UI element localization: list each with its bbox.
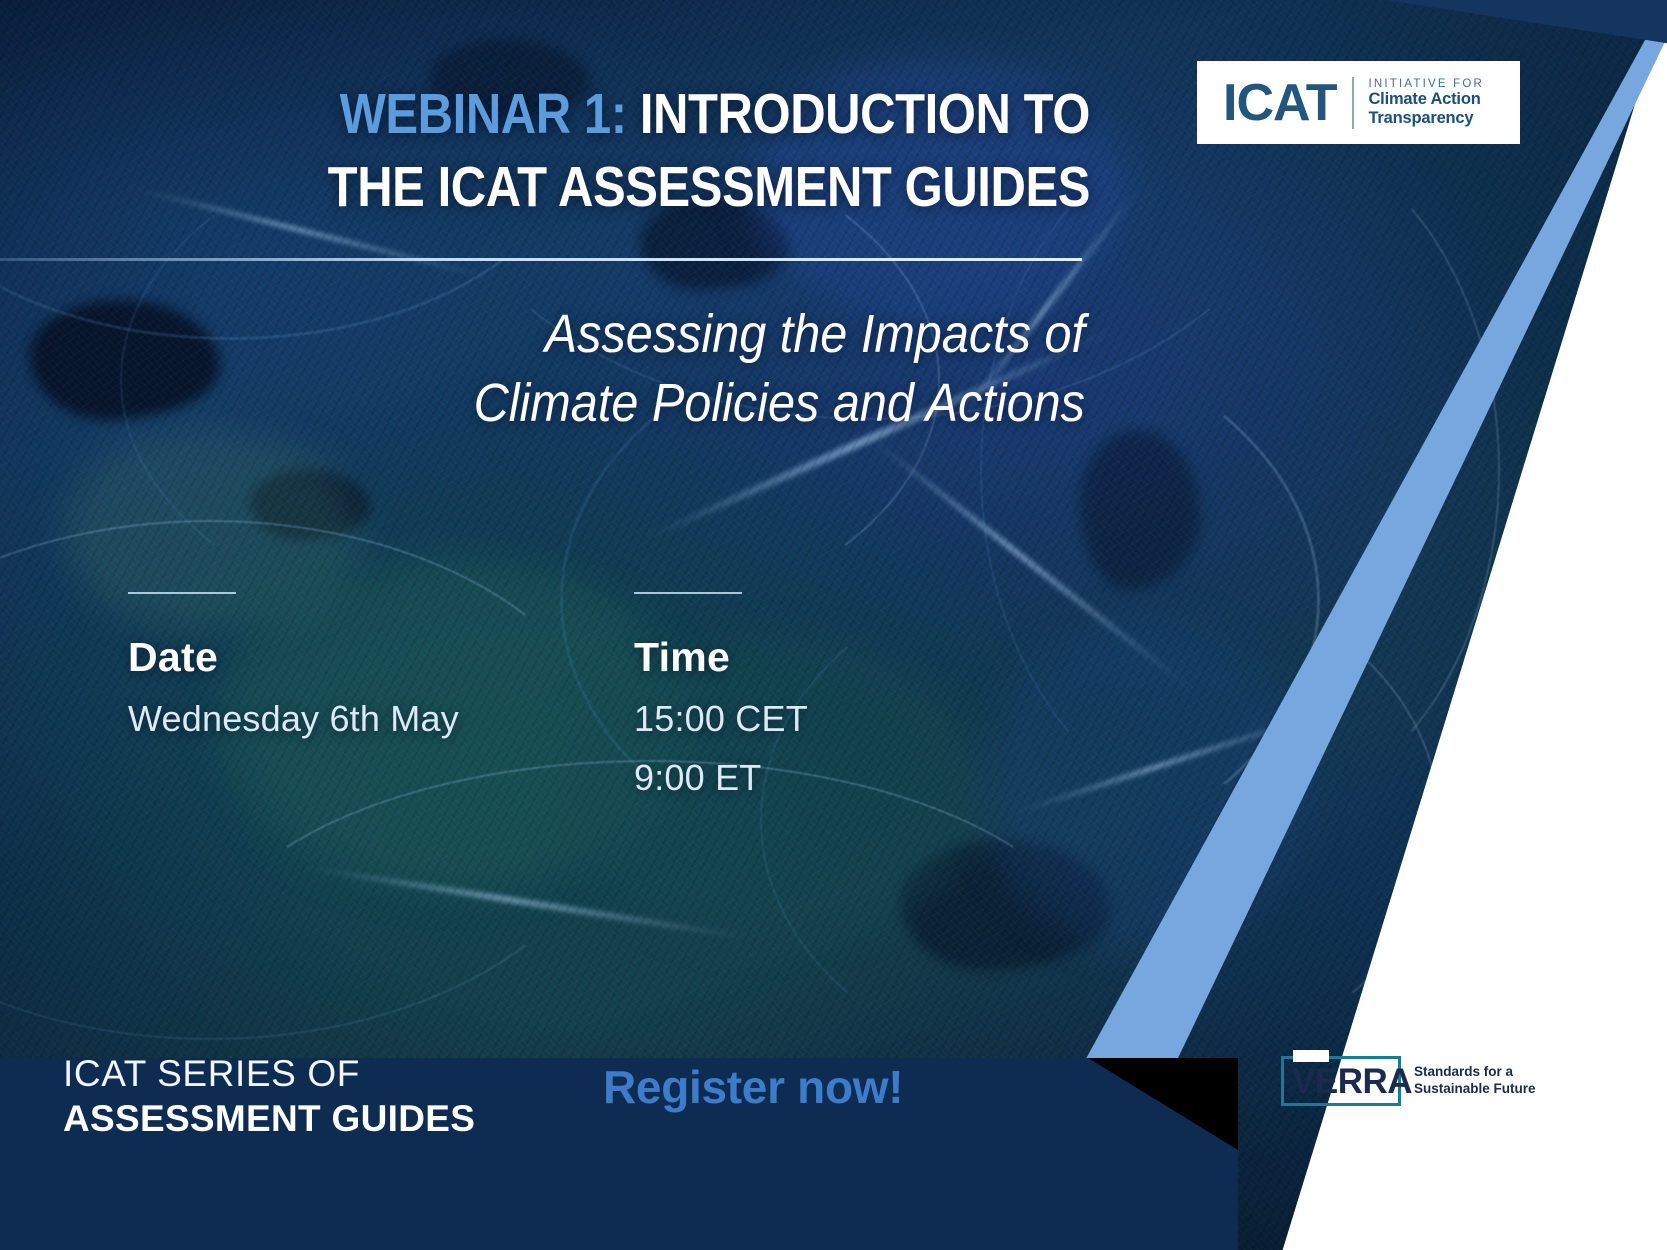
- title-highlight: WEBINAR 1:: [340, 82, 627, 146]
- subtitle-line2: Climate Policies and Actions: [474, 373, 1085, 433]
- icat-tagline-line1: INITIATIVE FOR: [1368, 78, 1484, 91]
- verra-tagline-line1: Standards for a: [1414, 1064, 1536, 1081]
- date-value: Wednesday 6th May: [128, 698, 459, 740]
- register-now-cta[interactable]: Register now!: [603, 1060, 903, 1114]
- webinar-promo-poster: ICAT INITIATIVE FOR Climate Action Trans…: [0, 0, 1667, 1250]
- date-label: Date: [128, 634, 218, 681]
- logo-divider: [1352, 77, 1354, 129]
- page-title: WEBINAR 1: INTRODUCTION TO THE ICAT ASSE…: [153, 78, 1090, 224]
- time-value-cet: 15:00 CET: [634, 698, 808, 740]
- verra-logo: VERRA Standards for a Sustainable Future: [1281, 1056, 1536, 1106]
- icat-logo: ICAT INITIATIVE FOR Climate Action Trans…: [1197, 61, 1520, 144]
- title-line2: THE ICAT ASSESSMENT GUIDES: [328, 155, 1090, 219]
- footer-series-line2: ASSESSMENT GUIDES: [63, 1098, 475, 1140]
- subtitle-line1: Assessing the Impacts of: [545, 304, 1085, 364]
- decorative-black-corner: [1088, 1058, 1238, 1150]
- verra-tagline: Standards for a Sustainable Future: [1414, 1064, 1536, 1098]
- verra-logo-box: VERRA: [1281, 1056, 1401, 1106]
- icat-tagline-line2: Climate Action: [1368, 90, 1484, 108]
- time-value-et: 9:00 ET: [634, 757, 761, 799]
- title-divider-rule: [0, 258, 1082, 261]
- time-label: Time: [634, 634, 730, 681]
- icat-tagline-line3: Transparency: [1368, 109, 1484, 127]
- footer-series-line1: ICAT SERIES OF: [63, 1053, 360, 1095]
- date-rule: [128, 592, 236, 594]
- title-rest-line1: INTRODUCTION TO: [627, 82, 1090, 146]
- verra-wordmark: VERRA: [1292, 1064, 1412, 1099]
- verra-v-notch: [1293, 1050, 1329, 1062]
- page-subtitle: Assessing the Impacts of Climate Policie…: [109, 300, 1086, 438]
- verra-tagline-line2: Sustainable Future: [1414, 1081, 1536, 1098]
- icat-wordmark: ICAT: [1223, 77, 1336, 129]
- icat-tagline: INITIATIVE FOR Climate Action Transparen…: [1368, 78, 1484, 128]
- time-rule: [634, 592, 742, 594]
